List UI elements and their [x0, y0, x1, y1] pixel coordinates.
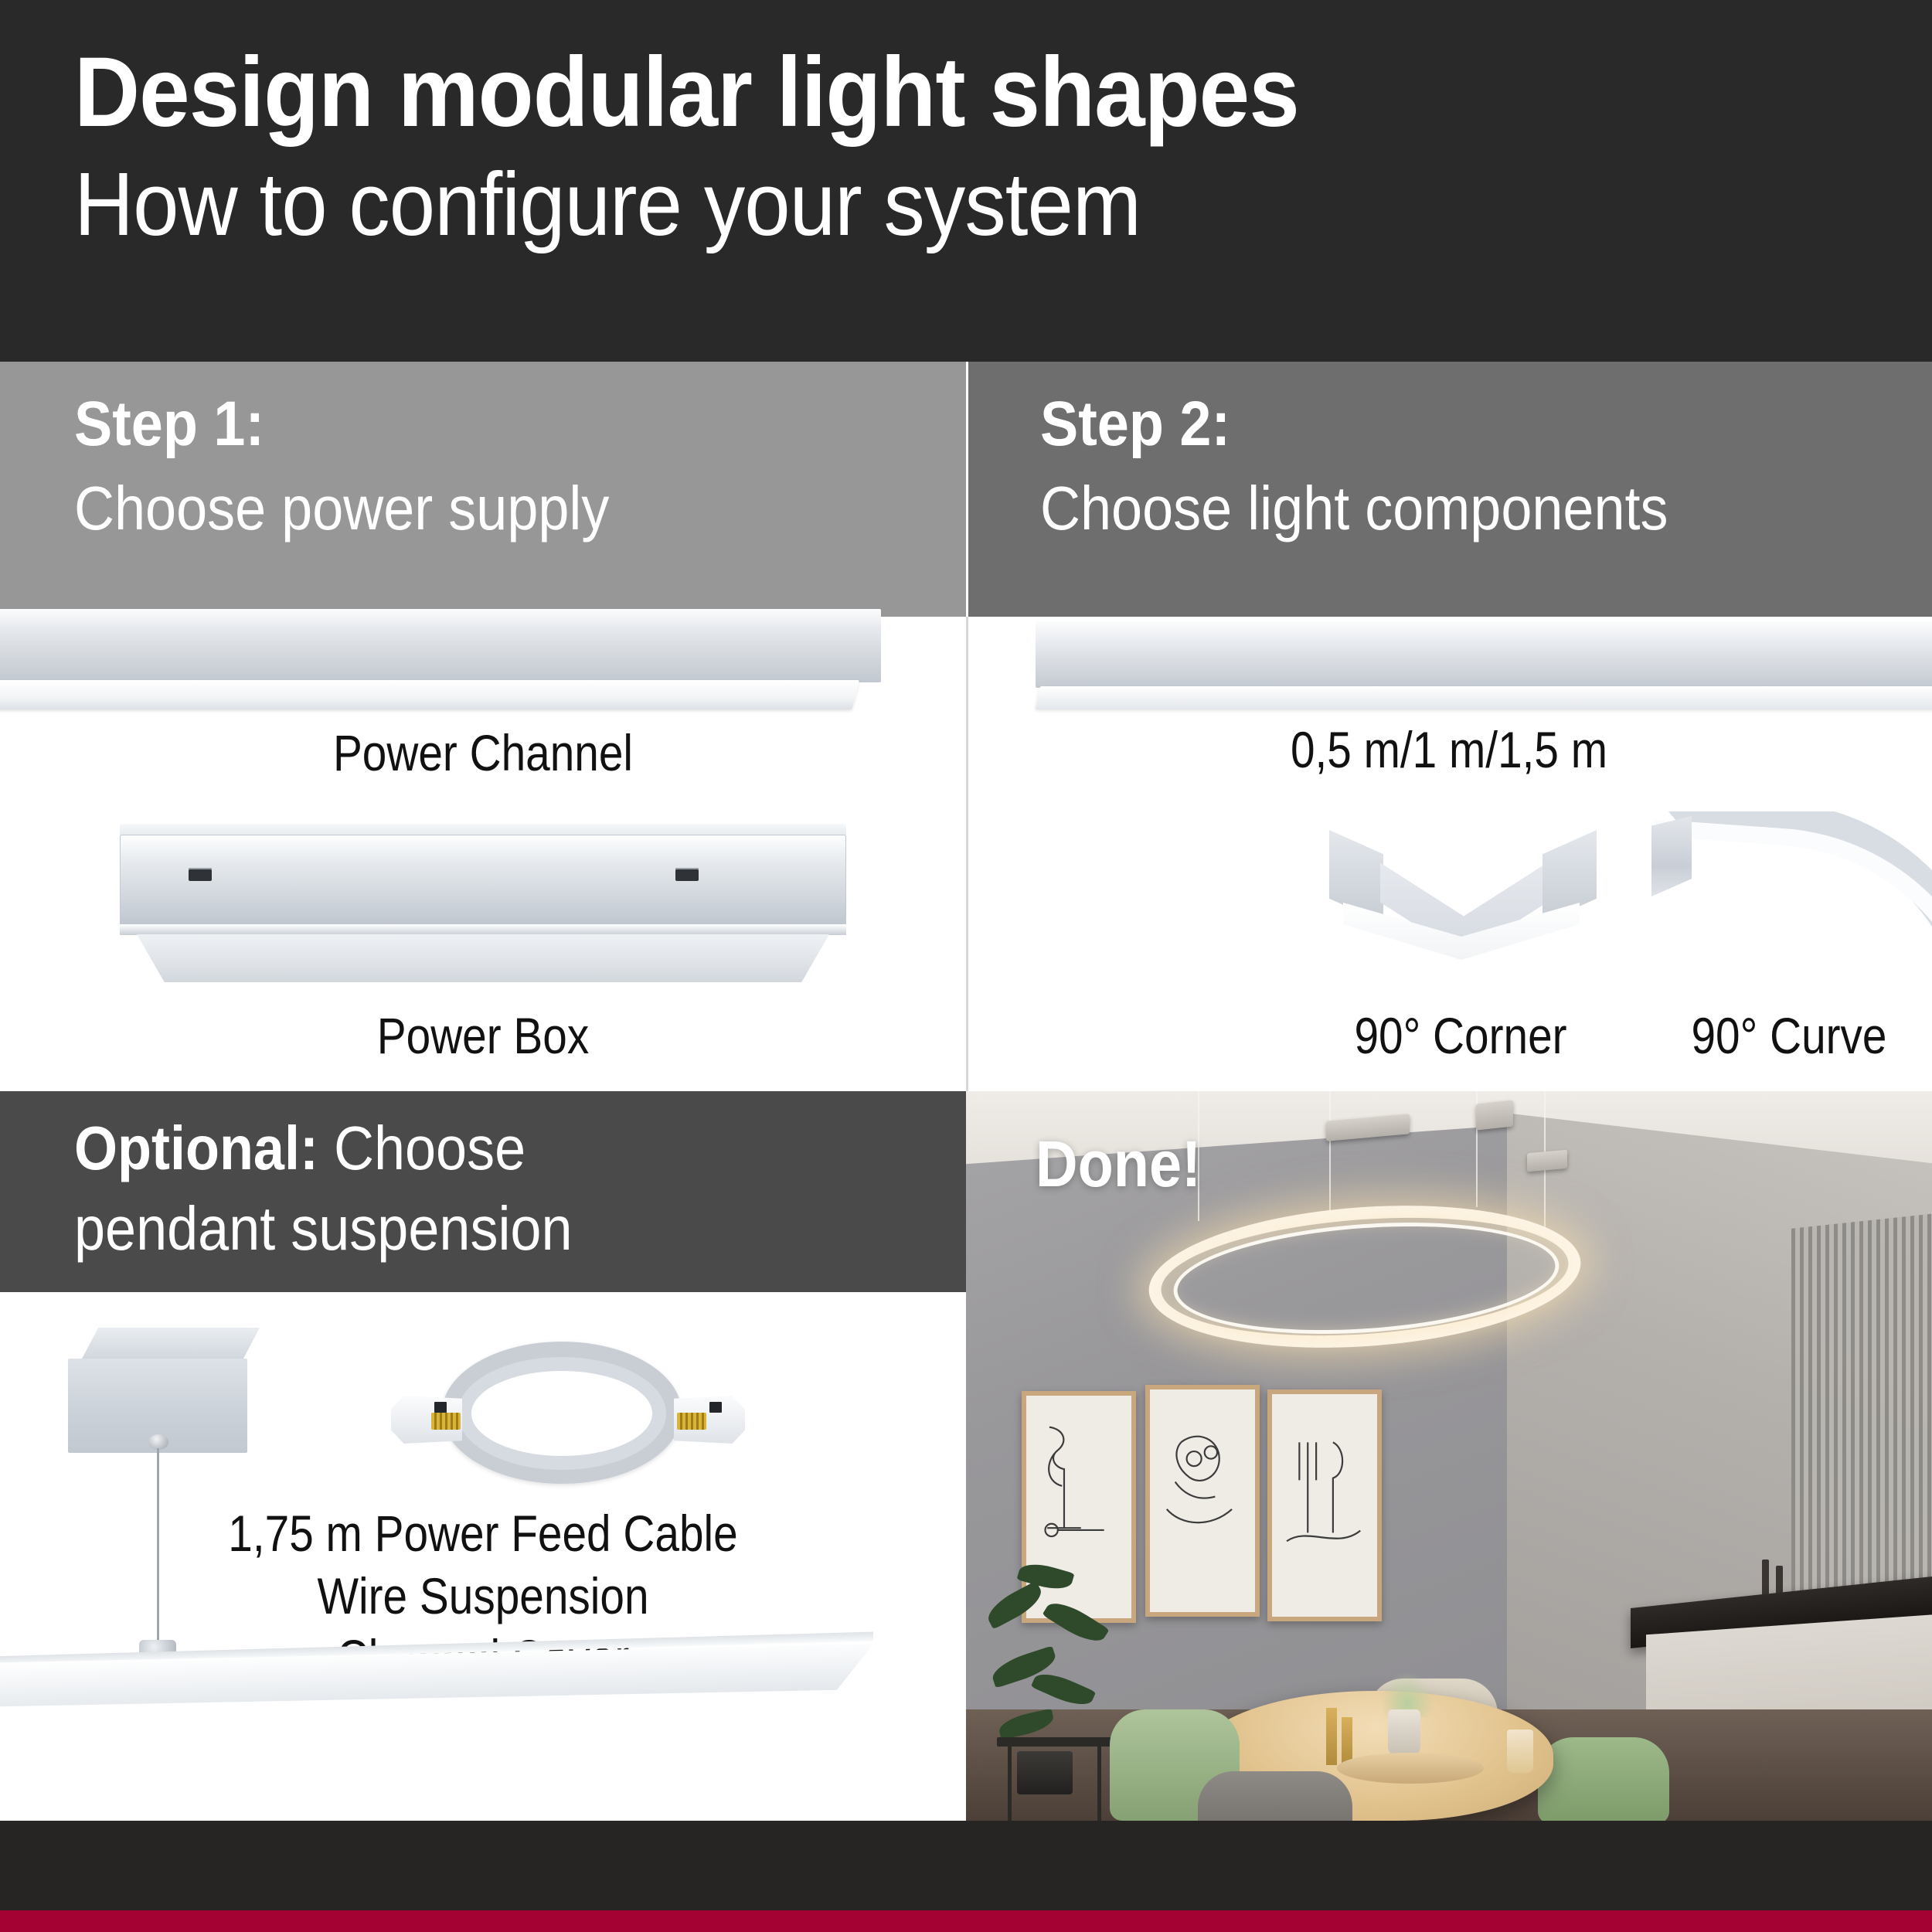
- optional-kicker: Optional:: [74, 1114, 318, 1182]
- step-2-kicker: Step 2:: [1040, 391, 1843, 457]
- power-box-diffuser: [137, 934, 829, 982]
- table-tray: [1337, 1753, 1484, 1784]
- power-box-label: Power Box: [68, 1008, 899, 1065]
- curve-90-image: [1650, 811, 1932, 989]
- step-1-kicker: Step 1:: [74, 391, 877, 457]
- plant-leaf: [983, 1580, 1047, 1629]
- step-2-header: Step 2: Choose light components: [966, 362, 1932, 617]
- table-glass: [1507, 1730, 1533, 1773]
- vertical-divider: [966, 617, 968, 1091]
- corner-90-label: 90° Corner: [1301, 1008, 1621, 1065]
- cable-pins-left: [431, 1413, 461, 1430]
- corner-90-image: [1329, 819, 1592, 981]
- light-bar-image: [1036, 621, 1932, 688]
- pendant-cord-2: [1329, 1091, 1331, 1213]
- optional-item-0: 1,75 m Power Feed Cable: [68, 1502, 899, 1565]
- wall-art-frame-2: [1145, 1385, 1260, 1617]
- infographic-page: Design modular light shapes How to confi…: [0, 0, 1932, 1932]
- plant-stand-leg: [1008, 1747, 1012, 1821]
- power-channel-image: [0, 609, 881, 682]
- cable-connector-block-right: [709, 1402, 722, 1413]
- cable-pins-right: [677, 1413, 706, 1430]
- wall-art-frame-3: [1267, 1389, 1382, 1621]
- line-art-face-icon: [1150, 1389, 1255, 1612]
- plant-leaf: [997, 1709, 1056, 1740]
- optional-kicker-line: Optional: Choose: [74, 1114, 877, 1182]
- step-1-header: Step 1: Choose power supply: [0, 362, 966, 617]
- plant-stand-leg: [1097, 1747, 1101, 1821]
- ceiling-canopy-3: [1527, 1150, 1567, 1172]
- table-candle-1: [1326, 1708, 1337, 1765]
- power-box-slot-right: [675, 868, 699, 881]
- power-channel-label: Power Channel: [68, 725, 899, 782]
- table-vase: [1388, 1709, 1420, 1757]
- footer-accent-bar: [0, 1910, 1932, 1932]
- cable-coil-inner: [457, 1357, 666, 1470]
- plant-leaf: [1031, 1667, 1096, 1712]
- step-header-row: Step 1: Choose power supply Step 2: Choo…: [0, 362, 1932, 617]
- optional-kicker-rest: Choose: [318, 1114, 526, 1182]
- footer-bar: [0, 1821, 1932, 1910]
- curve-90-label: 90° Curve: [1633, 1008, 1932, 1065]
- bracket-wire-knob: [148, 1434, 168, 1450]
- line-art-cutlery-icon: [1272, 1394, 1377, 1617]
- page-subtitle: How to configure your system: [74, 155, 1784, 255]
- dining-chair-gray-front: [1198, 1771, 1352, 1821]
- ceiling-canopy-2: [1476, 1100, 1513, 1130]
- optional-header: Optional: Choose pendant suspension: [0, 1091, 966, 1292]
- table-candle-2: [1342, 1717, 1352, 1765]
- optional-line-2: pendant suspension: [74, 1195, 877, 1263]
- corner-diffuser: [1343, 903, 1580, 980]
- page-title: Design modular light shapes: [74, 40, 1784, 145]
- plant-leaf: [1042, 1595, 1109, 1649]
- plant-stand: [997, 1737, 1113, 1821]
- scene-wall-slats: [1791, 1213, 1932, 1592]
- step-2-text: Choose light components: [1040, 474, 1843, 543]
- done-label: Done!: [1036, 1127, 1201, 1202]
- title-band: Design modular light shapes How to confi…: [0, 0, 1932, 362]
- bracket-top-face: [80, 1328, 260, 1362]
- dining-chair-green-right: [1538, 1737, 1669, 1821]
- power-box-slot-left: [189, 868, 212, 881]
- light-bar-lengths-label: 0,5 m/1 m/1,5 m: [1034, 722, 1865, 779]
- power-box-front-face: [120, 835, 846, 926]
- power-feed-cable-image: [386, 1338, 750, 1493]
- optional-item-1: Wire Suspension: [68, 1565, 899, 1628]
- plant-stand-top: [997, 1737, 1113, 1747]
- optional-products: 1,75 m Power Feed Cable Wire Suspension …: [0, 1292, 966, 1821]
- step-1-products: Power Channel Power Box: [0, 617, 966, 1091]
- cable-connector-block-left: [434, 1402, 447, 1413]
- power-box-image: [120, 824, 846, 982]
- step-1-text: Choose power supply: [74, 474, 877, 543]
- step-2-products: 0,5 m/1 m/1,5 m 90° Corner 90° Curve: [966, 617, 1932, 1091]
- power-box-bevel: [120, 924, 846, 935]
